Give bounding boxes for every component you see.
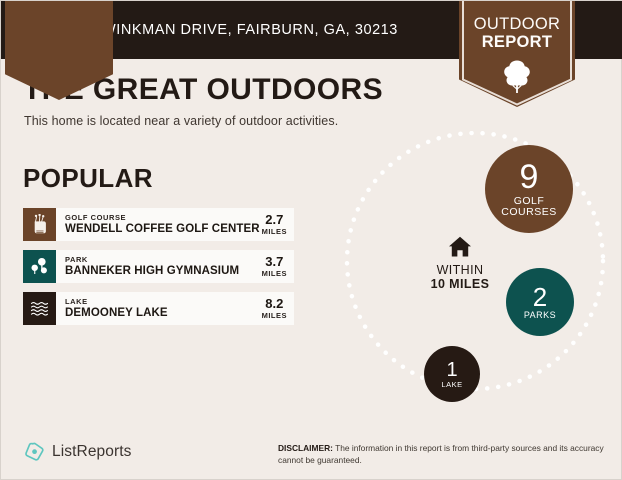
list-item[interactable]: LAKE DEMOONEY LAKE 8.2 MILES (23, 292, 294, 325)
list-item-names: LAKE DEMOONEY LAKE (65, 298, 168, 319)
stat-label: LAKE (441, 381, 462, 389)
distance-value: 3.7 (262, 255, 287, 269)
within-label-line1: WITHIN (405, 263, 515, 277)
stat-count: 1 (446, 360, 457, 380)
water-waves-icon (23, 292, 56, 325)
list-item-category: PARK (65, 256, 239, 264)
list-item-name: BANNEKER HIGH GYMNASIUM (65, 265, 239, 277)
park-tree-icon (23, 250, 56, 283)
disclaimer-label: DISCLAIMER: (278, 443, 333, 453)
stat-label: PARKS (524, 311, 556, 320)
brand-name: ListReports (52, 443, 132, 461)
badge-label: OUTDOOR REPORT (459, 15, 575, 51)
list-item-text: LAKE DEMOONEY LAKE 8.2 MILES (56, 292, 294, 325)
stat-bubble-lake[interactable]: 1 LAKE (424, 346, 480, 402)
listreports-pin-icon (23, 441, 45, 463)
distance-value: 2.7 (262, 213, 287, 227)
popular-heading: POPULAR (23, 163, 153, 194)
disclaimer: DISCLAIMER: The information in this repo… (278, 443, 608, 466)
distance-unit: MILES (262, 311, 287, 320)
list-item-name: WENDELL COFFEE GOLF CENTER (65, 223, 256, 235)
distance-value: 8.2 (262, 297, 287, 311)
brand-logo[interactable]: ListReports (23, 441, 132, 463)
list-item-text: PARK BANNEKER HIGH GYMNASIUM 3.7 MILES (56, 250, 294, 283)
stat-count: 9 (520, 160, 539, 194)
house-icon (448, 236, 472, 258)
stat-bubble-golf-courses[interactable]: 9 GOLF COURSES (485, 145, 573, 233)
list-item[interactable]: PARK BANNEKER HIGH GYMNASIUM 3.7 MILES (23, 250, 294, 283)
stat-bubble-parks[interactable]: 2 PARKS (506, 268, 574, 336)
list-item-text: GOLF COURSE WENDELL COFFEE GOLF CENTER 2… (56, 208, 294, 241)
list-item-name: DEMOONEY LAKE (65, 307, 168, 319)
list-item-category: LAKE (65, 298, 168, 306)
badge-line2: REPORT (459, 33, 575, 51)
within-label-line2: 10 MILES (405, 277, 515, 291)
stat-count: 2 (533, 284, 547, 310)
stat-label: GOLF COURSES (501, 196, 556, 218)
popular-list: GOLF COURSE WENDELL COFFEE GOLF CENTER 2… (23, 208, 294, 334)
list-item-distance: 8.2 MILES (262, 297, 287, 320)
stat-label-line2: COURSES (501, 206, 556, 218)
list-item-names: PARK BANNEKER HIGH GYMNASIUM (65, 256, 239, 277)
distance-unit: MILES (262, 227, 287, 236)
within-radius-block: WITHIN 10 MILES (405, 236, 515, 291)
list-item-category: GOLF COURSE (65, 214, 256, 222)
page-subtitle: This home is located near a variety of o… (24, 114, 338, 128)
outdoor-report-page: 7884 WINKMAN DRIVE, FAIRBURN, GA, 30213 … (0, 0, 622, 480)
list-item-distance: 2.7 MILES (262, 213, 287, 236)
list-item-names: GOLF COURSE WENDELL COFFEE GOLF CENTER (65, 214, 256, 235)
list-item-distance: 3.7 MILES (262, 255, 287, 278)
tree-icon (501, 59, 533, 93)
outdoor-counts-infographic: 9 GOLF COURSES 2 PARKS 1 LAKE WITHIN 10 … (339, 131, 622, 416)
badge-line1: OUTDOOR (459, 15, 575, 33)
distance-unit: MILES (262, 269, 287, 278)
golf-bag-icon (23, 208, 56, 241)
list-item[interactable]: GOLF COURSE WENDELL COFFEE GOLF CENTER 2… (23, 208, 294, 241)
property-address: 7884 WINKMAN DRIVE, FAIRBURN, GA, 30213 (63, 22, 398, 38)
